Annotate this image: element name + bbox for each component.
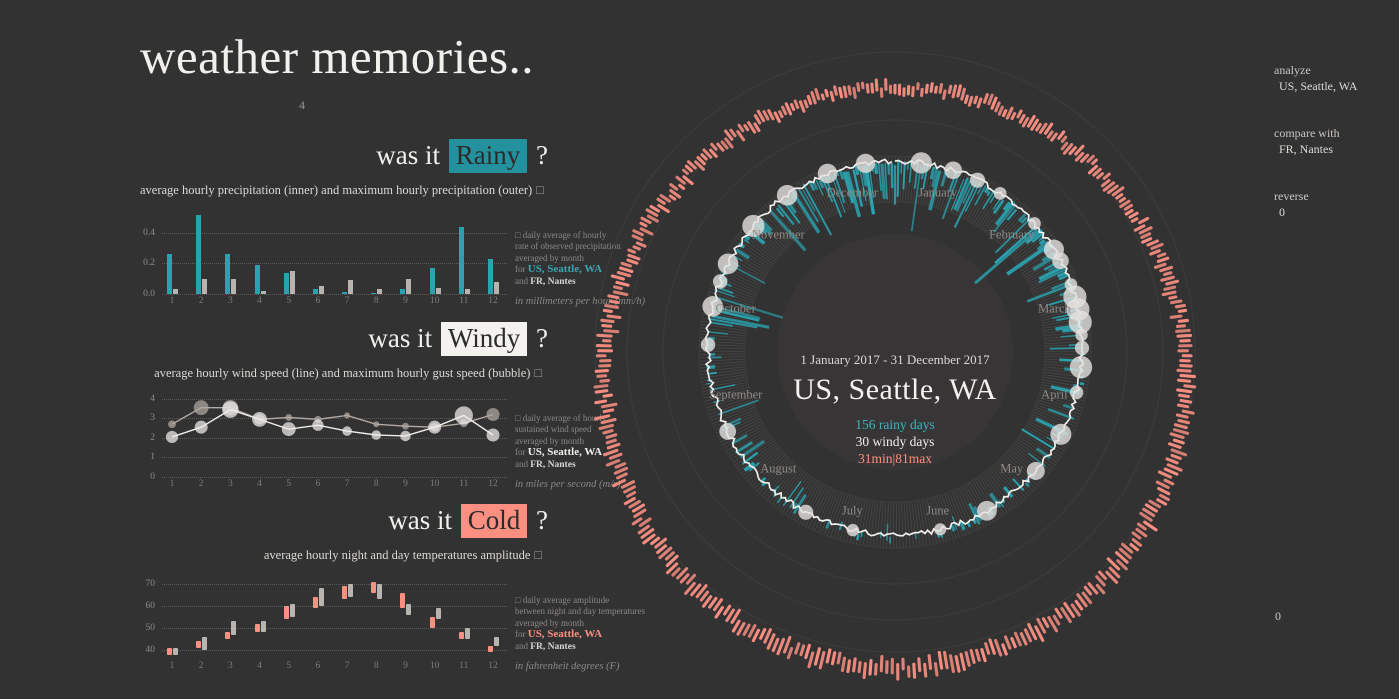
month-label-november[interactable]: November — [752, 228, 805, 243]
month-label-january[interactable]: January — [918, 185, 957, 200]
legend-for-label: for — [515, 447, 526, 457]
temperature-range-bar — [488, 646, 493, 653]
temperature-range-bar — [459, 632, 464, 639]
bar — [494, 282, 499, 294]
panel-cold: was it Cold ? average hourly night and d… — [140, 505, 560, 685]
y-axis-tick-label: 60 — [146, 601, 156, 611]
wind-bubble — [342, 426, 352, 436]
x-axis-wind: 123456789101112 — [162, 479, 507, 493]
gridline — [162, 650, 507, 651]
question-prefix: was it — [376, 140, 440, 170]
x-axis-tick-label: 2 — [199, 296, 204, 306]
x-axis-tick-label: 1 — [170, 296, 175, 306]
temperature-range-bar — [261, 621, 266, 632]
x-axis-tick-label: 2 — [199, 661, 204, 671]
x-axis-tick-label: 11 — [459, 479, 468, 489]
question-suffix: ? — [536, 140, 548, 170]
bar — [290, 271, 295, 294]
y-axis-tick-label: 3 — [150, 413, 155, 423]
title-counter: 4 — [299, 98, 305, 113]
wind-bubble — [486, 428, 499, 441]
temperature-range-bar — [430, 617, 435, 628]
legend-glyph-icon: □ — [515, 595, 520, 605]
subtitle-toggle-icon[interactable]: □ — [536, 183, 544, 197]
y-axis-tick-label: 50 — [146, 623, 156, 633]
temperature-range-bar — [196, 641, 201, 648]
question-rainy: was it Rainy ? — [140, 140, 548, 171]
x-axis-tick-label: 3 — [228, 661, 233, 671]
plot-area-wind: 01234 — [162, 393, 507, 477]
x-axis-tick-label: 4 — [257, 479, 262, 489]
radial-center-disc — [777, 234, 1013, 470]
panel-windy: was it Windy ? average hourly wind speed… — [140, 323, 560, 503]
bar — [261, 291, 266, 294]
bar — [167, 254, 172, 294]
gridline — [162, 628, 507, 629]
wind-bubble — [166, 431, 178, 443]
wind-bubble — [252, 412, 267, 427]
x-axis-tick-label: 7 — [345, 661, 350, 671]
wind-bubble — [195, 421, 208, 434]
legend-for-label: for — [515, 264, 526, 274]
gridline — [162, 606, 507, 607]
temperature-range-bar — [290, 604, 295, 617]
temperature-range-bar — [465, 628, 470, 639]
keyword-rainy[interactable]: Rainy — [449, 139, 528, 173]
y-axis-tick-label: 0.2 — [143, 258, 155, 268]
question-suffix: ? — [536, 323, 548, 353]
x-axis-tick-label: 12 — [488, 661, 498, 671]
wind-bubble — [344, 412, 350, 418]
chart-precipitation: 0.00.20.4 123456789101112 □ daily averag… — [140, 210, 560, 320]
bar — [406, 279, 411, 294]
x-axis-tick-label: 10 — [430, 479, 440, 489]
x-axis-tick-label: 10 — [430, 296, 440, 306]
question-cold: was it Cold ? — [140, 505, 548, 536]
wind-bubble — [486, 408, 499, 421]
bar — [342, 292, 347, 294]
y-axis-tick-label: 4 — [150, 394, 155, 404]
gridline — [162, 294, 507, 295]
temperature-range-bar — [255, 624, 260, 633]
y-axis-tick-label: 1 — [150, 452, 155, 462]
bar — [400, 289, 405, 294]
wind-bubble — [373, 421, 379, 427]
x-axis-tick-label: 9 — [403, 661, 408, 671]
temperature-range-bar — [371, 582, 376, 593]
month-label-august[interactable]: August — [760, 461, 796, 476]
y-axis-tick-label: 0.0 — [143, 289, 155, 299]
question-prefix: was it — [368, 323, 432, 353]
bar — [377, 289, 382, 294]
month-label-april[interactable]: April — [1041, 387, 1067, 402]
y-axis-tick-label: 0 — [150, 472, 155, 482]
control-compare-value[interactable]: FR, Nantes — [1274, 141, 1394, 157]
bar — [488, 259, 493, 294]
page-title: weather memories.. — [140, 32, 534, 81]
wind-bubble — [312, 420, 323, 431]
legend-for-label: for — [515, 629, 526, 639]
control-compare[interactable]: compare with FR, Nantes — [1274, 125, 1394, 157]
x-axis-tick-label: 8 — [374, 296, 379, 306]
bar — [459, 227, 464, 294]
gridline — [162, 477, 507, 478]
control-reverse[interactable]: reverse 0 — [1274, 188, 1394, 220]
temperature-range-bar — [167, 648, 172, 655]
x-axis-tick-label: 12 — [488, 296, 498, 306]
month-label-september[interactable]: September — [709, 387, 762, 402]
x-axis-tick-label: 2 — [199, 479, 204, 489]
x-axis-tick-label: 10 — [430, 661, 440, 671]
subtitle-toggle-icon[interactable]: □ — [534, 548, 542, 562]
legend-glyph-icon: □ — [515, 413, 520, 423]
temperature-range-bar — [406, 604, 411, 615]
x-axis-tick-label: 5 — [286, 479, 291, 489]
bar — [225, 254, 230, 294]
wind-bubble — [371, 430, 381, 440]
bar — [371, 293, 376, 295]
wind-series-svg — [162, 393, 507, 477]
control-analyze-label: analyze — [1274, 62, 1394, 78]
bar — [255, 265, 260, 294]
x-axis-tick-label: 5 — [286, 296, 291, 306]
x-axis-precipitation: 123456789101112 — [162, 296, 507, 310]
temperature-range-bar — [494, 637, 499, 646]
radial-svg — [555, 0, 1235, 699]
wind-line — [172, 410, 493, 437]
panel-rainy: was it Rainy ? average hourly precipitat… — [140, 140, 560, 320]
x-axis-tick-label: 5 — [286, 661, 291, 671]
temperature-range-bar — [225, 632, 230, 639]
temperature-range-bar — [231, 621, 236, 634]
wind-bubble — [400, 431, 410, 441]
temperature-range-bar — [400, 593, 405, 608]
x-axis-tick-label: 7 — [345, 296, 350, 306]
bar — [231, 279, 236, 294]
month-label-december[interactable]: December — [827, 185, 878, 200]
question-prefix: was it — [388, 505, 452, 535]
wind-bubble — [455, 406, 473, 424]
chart-wind: 01234 123456789101112 □ daily average of… — [140, 393, 560, 503]
wind-bubble — [282, 422, 296, 436]
question-suffix: ? — [536, 505, 548, 535]
radial-weather-chart[interactable]: JanuaryFebruaryMarchAprilMayJuneJulyAugu… — [555, 0, 1235, 699]
gridline — [162, 233, 507, 234]
control-rail: analyze US, Seattle, WA compare with FR,… — [1274, 62, 1394, 251]
legend-and-label: and — [515, 276, 528, 286]
y-axis-tick-label: 40 — [146, 645, 156, 655]
temperature-range-bar — [313, 597, 318, 608]
chart-temperature: 40506070 123456789101112 □ daily average… — [140, 575, 560, 685]
subtitle-cold: average hourly night and day temperature… — [140, 548, 542, 563]
x-axis-tick-label: 8 — [374, 661, 379, 671]
plot-area-temperature: 40506070 — [162, 575, 507, 659]
bar — [196, 215, 201, 294]
control-reverse-value[interactable]: 0 — [1274, 204, 1394, 220]
temperature-range-bar — [284, 606, 289, 619]
x-axis-tick-label: 11 — [459, 661, 468, 671]
legend-and-label: and — [515, 459, 528, 469]
x-axis-tick-label: 12 — [488, 479, 498, 489]
control-analyze[interactable]: analyze US, Seattle, WA — [1274, 62, 1394, 94]
plot-area-precipitation: 0.00.20.4 — [162, 210, 507, 294]
month-label-march[interactable]: March — [1038, 302, 1071, 317]
temperature-range-bar — [319, 588, 324, 606]
x-axis-tick-label: 11 — [459, 296, 468, 306]
bar — [319, 286, 324, 294]
wind-line — [172, 408, 493, 428]
wind-bubble — [194, 400, 209, 415]
gridline — [162, 263, 507, 264]
bar — [313, 289, 318, 294]
month-label-july[interactable]: July — [842, 504, 863, 519]
subtitle-rainy: average hourly precipitation (inner) and… — [140, 183, 542, 198]
temperature-range-bar — [202, 637, 207, 650]
x-axis-temperature: 123456789101112 — [162, 661, 507, 675]
x-axis-tick-label: 3 — [228, 479, 233, 489]
x-axis-tick-label: 4 — [257, 661, 262, 671]
x-axis-tick-label: 9 — [403, 296, 408, 306]
x-axis-tick-label: 6 — [316, 661, 321, 671]
temperature-range-bar — [342, 586, 347, 599]
keyword-cold[interactable]: Cold — [461, 504, 528, 538]
temperature-range-bar — [436, 608, 441, 619]
month-label-october[interactable]: October — [715, 302, 755, 317]
bar — [430, 268, 435, 294]
bar — [436, 288, 441, 294]
month-label-june[interactable]: June — [926, 504, 949, 519]
gridline — [162, 584, 507, 585]
subtitle-text: average hourly wind speed (line) and max… — [154, 366, 530, 380]
wind-bubble — [285, 414, 292, 421]
keyword-windy[interactable]: Windy — [441, 322, 527, 356]
subtitle-text: average hourly night and day temperature… — [264, 548, 531, 562]
wind-bubble — [428, 421, 441, 434]
question-windy: was it Windy ? — [140, 323, 548, 354]
bar — [173, 289, 178, 294]
y-axis-tick-label: 70 — [146, 579, 156, 589]
wind-bubble — [168, 420, 176, 428]
control-analyze-value[interactable]: US, Seattle, WA — [1274, 78, 1394, 94]
x-axis-tick-label: 6 — [316, 296, 321, 306]
x-axis-tick-label: 8 — [374, 479, 379, 489]
bar — [348, 280, 353, 294]
subtitle-windy: average hourly wind speed (line) and max… — [140, 366, 542, 381]
control-compare-label: compare with — [1274, 125, 1394, 141]
control-reverse-label: reverse — [1274, 188, 1394, 204]
bar — [202, 279, 207, 294]
legend-glyph-icon: □ — [515, 230, 520, 240]
x-axis-tick-label: 6 — [316, 479, 321, 489]
bottom-counter: 0 — [1275, 609, 1281, 624]
x-axis-tick-label: 1 — [170, 479, 175, 489]
y-axis-tick-label: 0.4 — [143, 228, 155, 238]
subtitle-toggle-icon[interactable]: □ — [534, 366, 542, 380]
app-canvas: weather memories.. 4 was it Rainy ? aver… — [0, 0, 1399, 699]
x-axis-tick-label: 4 — [257, 296, 262, 306]
temperature-range-bar — [348, 584, 353, 597]
bar — [465, 289, 470, 294]
legend-and-label: and — [515, 641, 528, 651]
x-axis-tick-label: 3 — [228, 296, 233, 306]
x-axis-tick-label: 1 — [170, 661, 175, 671]
wind-bubble — [222, 401, 239, 418]
subtitle-text: average hourly precipitation (inner) and… — [140, 183, 532, 197]
month-label-may[interactable]: May — [1000, 461, 1023, 476]
y-axis-tick-label: 2 — [150, 433, 155, 443]
x-axis-tick-label: 9 — [403, 479, 408, 489]
x-axis-tick-label: 7 — [345, 479, 350, 489]
temperature-range-bar — [173, 648, 178, 655]
wind-bubble — [402, 423, 409, 430]
month-label-february[interactable]: February — [989, 228, 1034, 243]
bar — [284, 273, 289, 294]
temperature-range-bar — [377, 584, 382, 599]
